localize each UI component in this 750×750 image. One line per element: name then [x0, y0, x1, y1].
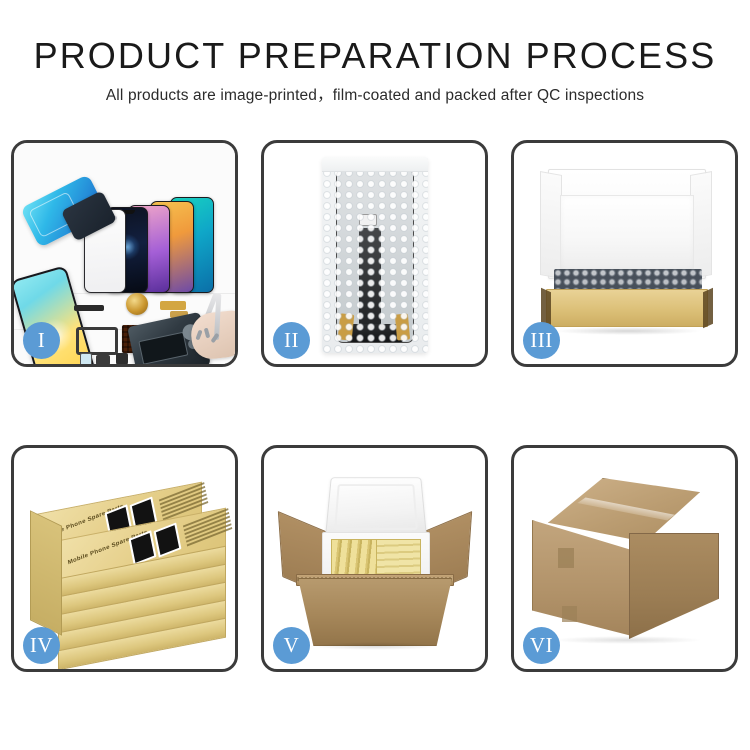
camera-module-part: [96, 355, 110, 364]
sealed-shipping-carton: [532, 478, 718, 640]
speaker-module: [74, 305, 104, 311]
carton-seal-mark-bottom: [562, 606, 577, 622]
process-step-card-5[interactable]: V: [261, 445, 488, 672]
screws-group: [197, 328, 221, 346]
step-badge-3: III: [523, 322, 560, 359]
box-lid-flap-left: [540, 171, 562, 279]
retail-box-stack: Mobile Phone Spare Parts Mobile Phone Sp…: [30, 474, 226, 648]
open-carton-with-cooler: [282, 470, 468, 648]
box-feature-list-b: [183, 508, 233, 550]
frame-bracket: [76, 327, 118, 355]
process-step-grid: I II: [11, 140, 739, 672]
step-badge-2: II: [273, 322, 310, 359]
carton-seal-mark-top: [558, 548, 574, 568]
stack-left-side-face: [30, 510, 62, 636]
carton-left-face: [532, 520, 632, 636]
process-step-card-6[interactable]: VI: [511, 445, 738, 672]
bubble-texture: [322, 157, 428, 353]
step-badge-1: I: [23, 322, 60, 359]
page-subtitle: All products are image-printed，film-coat…: [0, 88, 750, 104]
wireless-charging-coil: [126, 293, 148, 315]
kraft-box-open: [540, 163, 712, 333]
step-badge-5: V: [273, 627, 310, 664]
page-title: PRODUCT PREPARATION PROCESS: [0, 38, 750, 74]
box-product-photo-b: [154, 522, 182, 557]
step-badge-6: VI: [523, 627, 560, 664]
gold-flex-cable-a: [160, 301, 186, 310]
carton-shadow: [310, 642, 440, 650]
carton-right-face: [629, 533, 719, 639]
vibrator-motor-part: [116, 353, 128, 364]
process-step-card-4[interactable]: Mobile Phone Spare Parts Mobile Phone Sp…: [11, 445, 238, 672]
bag-seal-strip: [322, 157, 428, 172]
process-step-card-2[interactable]: II: [261, 140, 488, 367]
step-badge-4: IV: [23, 627, 60, 664]
kraft-box-front-wall: [546, 289, 708, 327]
carton-body: [298, 578, 452, 646]
styrofoam-lid: [325, 477, 427, 538]
box-shadow: [554, 327, 702, 335]
carton-shadow: [552, 636, 702, 644]
packed-yellow-boxes-right: [376, 539, 421, 578]
page-header: PRODUCT PREPARATION PROCESS All products…: [0, 0, 750, 104]
process-step-card-3[interactable]: III: [511, 140, 738, 367]
bubble-wrap-bag: [322, 157, 428, 353]
sim-tray-part: [80, 353, 92, 364]
process-step-card-1[interactable]: I: [11, 140, 238, 367]
white-foam-sheet: [560, 195, 694, 271]
